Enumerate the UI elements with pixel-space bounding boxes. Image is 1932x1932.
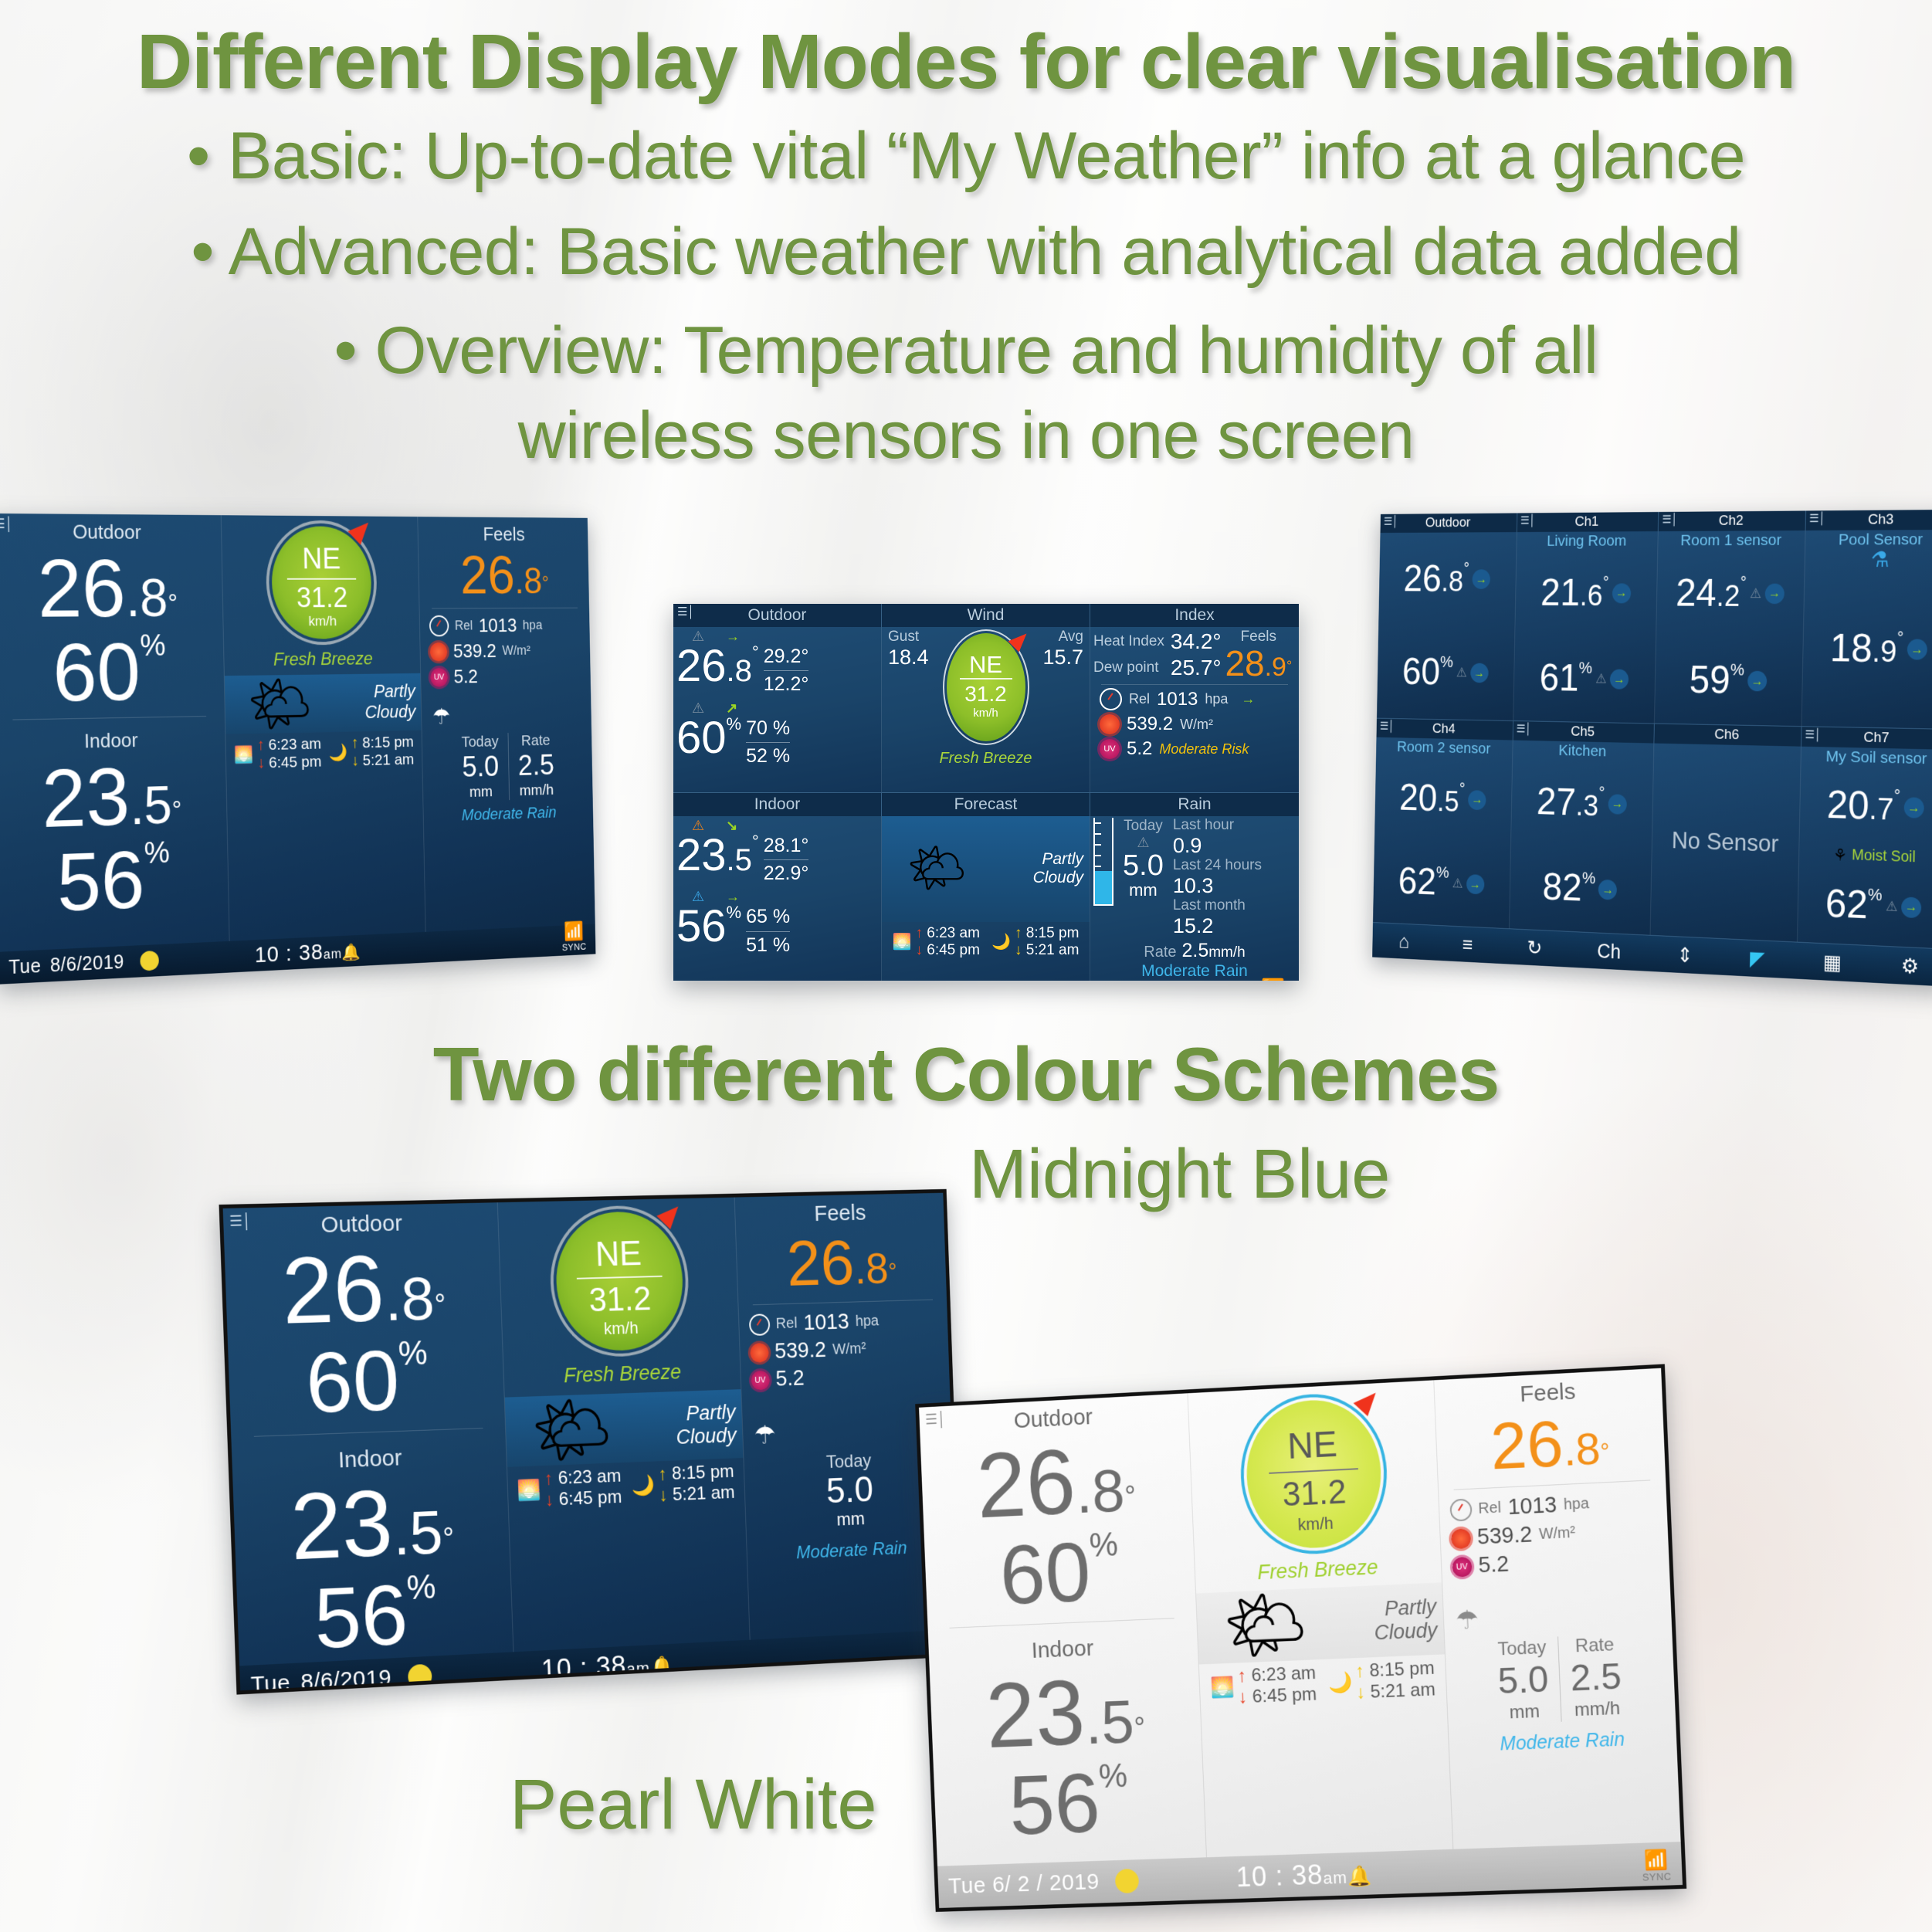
wifi-sync-icon: 📶 [564, 921, 585, 942]
uv-row: UV 5.2 Moderate Risk [1100, 738, 1296, 760]
overview-humidity-row: 62%⚠→ [1797, 863, 1932, 949]
basic-middle-column: NE 31.2 km/h Fresh Breeze 🌤 Partly Cloud… [222, 515, 426, 941]
headline-block: Different Display Modes for clear visual… [0, 0, 1932, 478]
trend-arrow-icon: → [726, 629, 740, 645]
overview-channel-cell[interactable]: ☰│Ch7My Soil sensor20.7°→⚘Moist Soil62%⚠… [1797, 727, 1932, 950]
barometer-icon [1100, 688, 1122, 710]
pressure-row: Rel 1013 hpa → [1100, 688, 1296, 710]
uv-index-icon: UV [1100, 739, 1120, 759]
trend-arrow-icon: → [1598, 880, 1617, 900]
indoor-temperature: 23.5° [0, 753, 227, 842]
signal-bars-icon: ☰│ [1380, 720, 1395, 733]
outdoor-humidity: 60% [676, 717, 741, 759]
wifi-sync-icon: 📶 [1261, 978, 1285, 981]
sunrise-sunset-icon: 🌅 [1210, 1675, 1235, 1700]
overview-temperature-row: 21.6°→ [1515, 550, 1658, 636]
overview-temperature-row: 20.5°→ [1374, 755, 1512, 843]
moonrise-moonset-icon: 🌙 [1327, 1670, 1353, 1695]
signal-bars-icon: ☰│ [1384, 515, 1398, 528]
overview-channel-name: Room 1 sensor [1658, 531, 1805, 550]
rain-summary: Today 5.0 mm Rate 2.5 mm/h [1445, 1632, 1676, 1726]
sunset-time: 6:45 pm [558, 1486, 622, 1510]
uv-index-icon: UV [751, 1370, 770, 1390]
overview-humidity: 62% [1825, 885, 1883, 925]
signal-bars-icon: ☰│ [0, 517, 13, 532]
sync-indicator[interactable]: 📶SYNC [1642, 1853, 1672, 1884]
solar-row: 539.2W/m² [1100, 713, 1296, 735]
wind-dial: NE 31.2 km/h [1238, 1391, 1390, 1557]
no-sensor-message: No Sensor [1671, 826, 1778, 857]
rain-today-value: 5.0 [1123, 851, 1164, 880]
wind-speed-unit: km/h [267, 613, 378, 630]
wind-direction: NE [548, 1232, 687, 1276]
dew-point-value: 25.7° [1171, 656, 1222, 680]
feels-temperature: 26.8° [736, 1229, 947, 1298]
status-date-pearl: Tue 6/ 2 / 2019 [937, 1869, 1100, 1900]
advanced-cell-index: Index Heat Index 34.2° Dew point 25.7° F… [1090, 604, 1299, 793]
uv-index-icon: UV [430, 667, 448, 686]
sunset-time: 6:45 pm [269, 754, 322, 772]
sunrise-time: 6:23 am [268, 736, 321, 754]
moonrise-time: 8:15 pm [672, 1461, 734, 1483]
wind-speed-unit: km/h [551, 1317, 690, 1341]
overview-temperature-row: 27.3°→ [1511, 758, 1653, 849]
status-time: 10 : 38am🔔 [1235, 1857, 1373, 1893]
moonset-time: 5:21 am [362, 751, 414, 769]
trend-arrow-icon: → [1903, 797, 1924, 819]
overview-channel-header: ☰│Ch1 [1517, 512, 1658, 532]
sunrise-sunset-icon: 🌅 [234, 745, 253, 765]
heat-index-label: Heat Index [1093, 634, 1164, 649]
pw-right-column: Feels 26.8° Rel 1013 hpa 539.2W/m² UV [1434, 1368, 1681, 1849]
sync-indicator[interactable]: 📶SYNC [561, 925, 587, 954]
overview-humidity-row: 59%→ [1655, 636, 1803, 726]
sun-moon-times: 🌅 ↑ 6:23 am ↓ 6:45 pm 🌙 ↑ 8:15 pm ↓ 5:21… [225, 730, 422, 775]
moonset-time: 5:21 am [1370, 1679, 1435, 1702]
partly-cloudy-icon: 🌤 [882, 846, 992, 892]
wind-dial: NE 31.2 km/h [943, 629, 1029, 745]
trend-arrow-icon: → [1468, 790, 1486, 810]
signal-bars-icon: ☰│ [1809, 511, 1826, 525]
calendar-icon[interactable]: ▦ [1823, 951, 1842, 975]
overview-temperature: 21.6° [1541, 575, 1609, 611]
basic-left-column: ☰│ Outdoor 26.8° 60% Indoor 23.5° 56% [0, 514, 230, 952]
mb-left-column: ☰│ Outdoor 26.8° 60% Indoor 23.5° 56% [223, 1202, 514, 1666]
status-date: 8/6/2019 [290, 1665, 391, 1690]
solar-row: 539.2 W/m² [429, 639, 590, 663]
overview-channel-number: Ch2 [1719, 513, 1744, 530]
forecast-label: Forecast [882, 793, 1090, 816]
overview-humidity: 60% [1402, 654, 1453, 690]
forecast-text: Partly Cloudy [1332, 1595, 1443, 1646]
indoor-humidity: 56% [934, 1757, 1206, 1850]
overview-channel-header: Ch6 [1654, 724, 1801, 747]
maxmin-icon[interactable]: ⇕ [1676, 944, 1693, 968]
colour-schemes-title: Two different Colour Schemes [0, 1031, 1932, 1118]
sunrise-time: 6:23 am [927, 925, 980, 941]
display-advanced-mode[interactable]: ☰│ Outdoor ⚠ → 26.8° 29.2°12.2° [673, 604, 1299, 981]
forecast-text: Partly Cloudy [992, 850, 1090, 887]
display-basic-mode[interactable]: ☰│ Outdoor 26.8° 60% Indoor 23.5° 56% [0, 514, 595, 985]
page-title: Different Display Modes for clear visual… [0, 22, 1932, 103]
overview-channel-name: Living Room [1517, 532, 1658, 551]
indoor-temperature: 23.5° [930, 1662, 1202, 1764]
advanced-cell-wind: Wind Gust18.4 Avg15.7 NE 31.2 km/h Fre [882, 604, 1090, 793]
outdoor-temperature: 26.8° [0, 547, 223, 630]
overview-temperature: 20.5° [1399, 780, 1466, 818]
indoor-hum-minmax: 65 %51 % [746, 905, 790, 958]
gust-value: 18.4 [888, 646, 929, 669]
overview-humidity: 61% [1539, 660, 1592, 697]
overview-channel-cell[interactable]: ☰│Ch3Pool Sensor⚗18.9°→ [1802, 510, 1932, 730]
bullet-overview-cont: wireless sensors in one screen [0, 393, 1932, 478]
settings-wrench-icon[interactable]: ⚙ [1901, 954, 1920, 978]
overview-temperature-row: 20.7°→ [1799, 765, 1932, 849]
alarm-bell-icon: 🔔 [342, 942, 362, 961]
overview-humidity-row: 61%⚠→ [1513, 636, 1656, 724]
moonset-time: 5:21 am [1026, 942, 1080, 958]
alarm-bell-icon: 🔔 [1347, 1864, 1372, 1888]
pw-left-column: ☰│ Outdoor 26.8° 60% Indoor 23.5° 56% [919, 1393, 1207, 1866]
overview-channel-cell[interactable]: ☰│Ch5Kitchen27.3°→82%→ [1509, 721, 1654, 936]
uv-index-icon: UV [1452, 1556, 1472, 1577]
partly-cloudy-icon: 🌤 [1196, 1591, 1334, 1661]
basic-right-column: Feels 26.8° Rel 1013 hpa 539.2 W/m² [418, 517, 595, 932]
rain-today-label: Today [1123, 818, 1164, 835]
barometer-icon [748, 1313, 770, 1336]
uv-row: UV 5.2 [751, 1361, 950, 1392]
mb-middle-column: NE 31.2 km/h Fresh Breeze 🌤 Partly Cloud… [497, 1198, 750, 1652]
advanced-cell-rain: Rain Today ⚠ 5.0 [1090, 793, 1299, 981]
outdoor-label: Outdoor [0, 514, 222, 544]
barometer-icon [1449, 1499, 1472, 1522]
moonrise-moonset-icon: 🌙 [991, 932, 1011, 951]
wind-label: Wind [882, 604, 1090, 627]
rain-last24-label: Last 24 hours [1173, 858, 1262, 874]
refresh-icon[interactable]: ↻ [1527, 936, 1542, 959]
avg-label: Avg [1042, 629, 1083, 646]
wifi-sync-icon: 📶 [1644, 1849, 1669, 1872]
display-overview-mode[interactable]: ☰│Outdoor26.8°→60%⚠→☰│Ch1Living Room21.6… [1372, 510, 1932, 987]
signal-bars-icon: ☰│ [1520, 514, 1536, 527]
wind-dial: NE 31.2 km/h [265, 520, 378, 645]
umbrella-rain-icon: ☂ [1443, 1596, 1672, 1636]
indoor-temperature: 23.5° [232, 1472, 510, 1577]
partly-cloudy-icon: 🌤 [504, 1396, 639, 1464]
rain-rate-label: Rate [1144, 944, 1176, 961]
rain-rate-value: 2.5 [1181, 940, 1208, 961]
outdoor-humidity: 60% [924, 1525, 1196, 1622]
barometer-icon [429, 615, 449, 637]
signal-bars-icon: ☰│ [229, 1212, 252, 1231]
overview-temperature: 27.3° [1537, 784, 1605, 822]
wind-description: Fresh Breeze [224, 649, 420, 672]
outdoor-humidity: 60% [0, 630, 225, 715]
outdoor-temp-minmax: 29.2°12.2° [764, 645, 809, 697]
alert-triangle-icon: ⚠ [1137, 835, 1149, 851]
signal-bars-icon: ☰│ [1805, 727, 1822, 741]
wind-direction: NE [1239, 1421, 1386, 1470]
bullet-overview: • Overview: Temperature and humidity of … [0, 308, 1932, 393]
index-label: Index [1090, 604, 1299, 627]
trend-arrow-icon: → [1466, 874, 1484, 894]
wind-direction: NE [943, 651, 1029, 679]
overview-channel-grid: ☰│Outdoor26.8°→60%⚠→☰│Ch1Living Room21.6… [1373, 510, 1932, 950]
rain-today-unit: mm [1123, 880, 1164, 900]
overview-temperature: 24.2° [1676, 575, 1747, 612]
pool-thermometer-icon: ⚗ [1805, 549, 1932, 571]
moonrise-moonset-icon: 🌙 [329, 743, 348, 762]
umbrella-rain-icon: ☂ [422, 702, 591, 730]
outdoor-label: Outdoor [748, 606, 807, 624]
trend-arrow-icon: → [1608, 794, 1627, 815]
outdoor-temperature: 26.8° [224, 1239, 501, 1339]
channel-icon[interactable]: Ch [1597, 940, 1621, 964]
sun-moon-times: 🌅 ↑ 6:23 am ↓ 6:45 pm 🌙 ↑ 8:15 pm ↓ 5:21… [882, 922, 1090, 961]
solar-row: 539.2W/m² [750, 1334, 949, 1365]
dew-point-label: Dew point [1093, 660, 1164, 676]
feels-label: Feels [1434, 1368, 1663, 1412]
overview-channel-number: Outdoor [1425, 515, 1471, 531]
sunrise-sunset-icon: 🌅 [517, 1478, 542, 1503]
history-icon[interactable]: ≡ [1463, 933, 1473, 956]
indoor-humidity: 56% [0, 836, 229, 927]
overview-temperature-row: 18.9°→ [1802, 571, 1932, 729]
rain-status: Moderate Rain [423, 802, 593, 825]
feels-temperature: 26.8° [1435, 1405, 1666, 1483]
alert-triangle-icon: ⚠ [1595, 671, 1607, 686]
rain-lastmonth-value: 15.2 [1173, 914, 1262, 938]
trend-arrow-icon: → [1764, 583, 1785, 603]
outdoor-label: Outdoor [223, 1202, 498, 1241]
alert-triangle-icon: ⚠ [1750, 585, 1761, 602]
label-midnight-blue: Midnight Blue [969, 1135, 1390, 1215]
overview-channel-cell[interactable]: ☰│Ch1Living Room21.6°→61%⚠→ [1513, 512, 1659, 724]
home-icon[interactable]: ⌂ [1398, 930, 1409, 953]
label-pearl-white: Pearl White [510, 1764, 877, 1846]
heat-index-value: 34.2° [1171, 629, 1222, 654]
signal-bars-icon: ☰│ [925, 1411, 947, 1429]
alert-triangle-icon: ⚠ [1456, 665, 1467, 680]
advanced-cell-forecast: Forecast 🌤 Partly Cloudy 🌅 ↑ 6:23 am ↓ 6… [882, 793, 1090, 981]
alert-triangle-icon: ⚠ [1886, 898, 1898, 914]
solar-radiation-icon [1450, 1528, 1470, 1549]
rain-gauge-tube-icon [1093, 818, 1113, 906]
overview-channel-header: ☰│Ch2 [1659, 510, 1805, 531]
signal-bars-icon: ☰│ [1517, 722, 1532, 735]
solar-radiation-icon [1100, 714, 1120, 734]
rain-label: Rain [1090, 793, 1299, 816]
soil-moisture-icon: ⚘ [1833, 845, 1848, 865]
overview-humidity-row: 60%⚠→ [1377, 625, 1514, 720]
moonrise-moonset-icon: 🌙 [632, 1473, 656, 1497]
feels-label: Feels [418, 517, 588, 546]
pressure-row: Rel 1013 hpa [748, 1307, 947, 1337]
uv-row: UV 5.2 [430, 664, 591, 689]
trend-arrow-icon: → [1901, 897, 1921, 918]
moon-phase-icon [140, 951, 159, 971]
wind-speed-unit: km/h [943, 707, 1029, 720]
status-date: 8/6/2019 [41, 951, 124, 978]
trend-arrow-icon: → [1612, 583, 1632, 603]
overview-channel-number: Ch7 [1863, 730, 1890, 747]
graph-icon[interactable]: ◤ [1750, 947, 1765, 971]
alert-triangle-icon: ⚠ [1452, 876, 1463, 891]
trend-arrow-icon: → [1747, 671, 1767, 692]
rain-summary: Today 5.0 mm Rate 2.5 mm/h [422, 731, 593, 803]
rain-status: Moderate Rain [1449, 1727, 1677, 1757]
overview-channel-header: ☰│Outdoor [1381, 513, 1517, 533]
feels-label: Feels [734, 1193, 944, 1229]
bullet-advanced: • Advanced: Basic weather with analytica… [0, 209, 1932, 294]
sunset-time: 6:45 pm [1252, 1683, 1317, 1707]
overview-channel-header: ☰│Ch3 [1805, 510, 1932, 530]
bullet-basic: • Basic: Up-to-date vital “My Weather” i… [0, 114, 1932, 198]
feels-temperature: 28.9° [1222, 646, 1296, 681]
trend-arrow-icon: → [1241, 691, 1255, 707]
indoor-temperature: 23.5° [676, 834, 759, 876]
rain-lasthour-label: Last hour [1173, 818, 1262, 834]
overview-temperature-row: 26.8°→ [1378, 532, 1516, 626]
wind-description: Fresh Breeze [885, 750, 1086, 768]
advanced-cell-indoor: Indoor ⚠ ↘ 23.5° 28.1°22.9° [673, 793, 882, 981]
status-time: 10 : 38am🔔 [254, 938, 361, 968]
overview-humidity: 62% [1398, 863, 1449, 901]
moon-phase-icon [1115, 1869, 1140, 1893]
moonrise-time: 8:15 pm [1026, 925, 1080, 941]
overview-channel-number: Ch3 [1868, 512, 1894, 529]
overview-humidity: 82% [1542, 869, 1595, 908]
trend-arrow-icon: ↘ [726, 818, 737, 834]
moonrise-time: 8:15 pm [362, 734, 414, 751]
overview-temperature: 18.9° [1829, 630, 1903, 669]
moonset-time: 5:21 am [673, 1482, 735, 1504]
soil-status-label: Moist Soil [1852, 847, 1916, 867]
signal-bars-icon: ☰│ [1662, 513, 1678, 527]
overview-temperature: 20.7° [1826, 787, 1900, 827]
wind-description: Fresh Breeze [503, 1359, 741, 1390]
outdoor-temperature: 26.8° [676, 645, 759, 687]
signal-bars-icon: ☰│ [677, 605, 695, 619]
sunrise-time: 6:23 am [558, 1466, 622, 1489]
display-midnight-blue[interactable]: ☰│ Outdoor 26.8° 60% Indoor 23.5° 56% [219, 1189, 963, 1695]
wind-speed: 31.2 [1241, 1471, 1388, 1516]
avg-value: 15.7 [1042, 646, 1083, 669]
overview-channel-header: ☰│Ch7 [1801, 727, 1932, 750]
overview-channel-header: ☰│Ch4 [1377, 719, 1513, 741]
solar-radiation-icon [429, 642, 447, 661]
overview-humidity-row: 62%⚠→ [1373, 839, 1510, 928]
wind-dial: NE 31.2 km/h [547, 1205, 690, 1359]
outdoor-hum-minmax: 70 %52 % [746, 717, 790, 769]
wind-speed: 31.2 [551, 1280, 690, 1321]
moonrise-time: 8:15 pm [1369, 1657, 1435, 1680]
overview-humidity-row: 82%→ [1509, 843, 1651, 934]
rain-lasthour-value: 0.9 [1173, 834, 1262, 858]
overview-channel-number: Ch5 [1571, 724, 1595, 741]
rain-rate-unit: mm/h [1208, 944, 1246, 961]
sunrise-sunset-icon: 🌅 [893, 932, 912, 951]
indoor-label: Indoor [673, 793, 881, 816]
trend-arrow-icon: → [1907, 639, 1927, 659]
feels-temperature: 26.8° [419, 548, 589, 602]
wind-description: Fresh Breeze [1195, 1553, 1442, 1588]
gust-label: Gust [888, 629, 929, 646]
wind-speed: 31.2 [266, 582, 378, 615]
uv-risk-label: Moderate Risk [1159, 742, 1249, 757]
status-day: Tue [239, 1670, 290, 1690]
overview-temperature-row: 24.2°⚠→ [1656, 550, 1805, 638]
indoor-humidity: 56% [676, 905, 741, 947]
overview-channel-number: Ch6 [1714, 727, 1739, 744]
outdoor-humidity: 60% [228, 1334, 504, 1429]
solar-radiation-icon [750, 1343, 769, 1363]
wind-speed: 31.2 [943, 682, 1029, 707]
trend-arrow-icon: → [1610, 669, 1629, 690]
overview-humidity: 59% [1689, 662, 1744, 700]
overview-channel-header: ☰│Ch5 [1513, 721, 1654, 744]
display-pearl-white[interactable]: ☰│ Outdoor 26.8° 60% Indoor 23.5° 56% [915, 1364, 1686, 1912]
indoor-humidity: 56% [236, 1568, 513, 1666]
forecast-text: Partly Cloudy [334, 681, 422, 724]
status-day: Tue [0, 955, 42, 980]
partly-cloudy-icon: 🌤 [225, 677, 335, 731]
wind-direction: NE [266, 542, 377, 575]
pressure-row: Rel 1013 hpa [429, 614, 590, 637]
overview-channel-cell[interactable]: ☰│Ch4Room 2 sensor20.5°→62%⚠→ [1373, 719, 1513, 930]
sunset-time: 6:45 pm [927, 942, 980, 958]
overview-channel-number: Ch1 [1574, 514, 1598, 530]
rain-lastmonth-label: Last month [1173, 898, 1262, 914]
overview-channel-cell[interactable]: ☰│Outdoor26.8°→60%⚠→ [1377, 513, 1517, 721]
overview-channel-cell[interactable]: Ch6No Sensor [1650, 724, 1802, 943]
forecast-text: Partly Cloudy [637, 1400, 743, 1450]
indoor-temp-minmax: 28.1°22.9° [764, 834, 809, 886]
pw-middle-column: NE 31.2 km/h Fresh Breeze 🌤 Partly Cloud… [1188, 1380, 1453, 1857]
overview-channel-cell[interactable]: ☰│Ch2Room 1 sensor24.2°⚠→59%→ [1655, 510, 1806, 727]
trend-arrow-icon: → [1473, 569, 1491, 588]
sunrise-time: 6:23 am [1251, 1663, 1316, 1686]
rain-last24-value: 10.3 [1173, 874, 1262, 898]
overview-temperature: 26.8° [1403, 561, 1469, 597]
forecast-box: 🌤 Partly Cloudy [225, 673, 422, 734]
outdoor-temperature: 26.8° [920, 1429, 1193, 1534]
overview-channel-number: Ch4 [1432, 721, 1456, 737]
advanced-cell-outdoor: ☰│ Outdoor ⚠ → 26.8° 29.2°12.2° [673, 604, 882, 793]
trend-arrow-icon: → [1470, 663, 1489, 683]
overview-channel-name: Pool Sensor [1805, 530, 1932, 550]
